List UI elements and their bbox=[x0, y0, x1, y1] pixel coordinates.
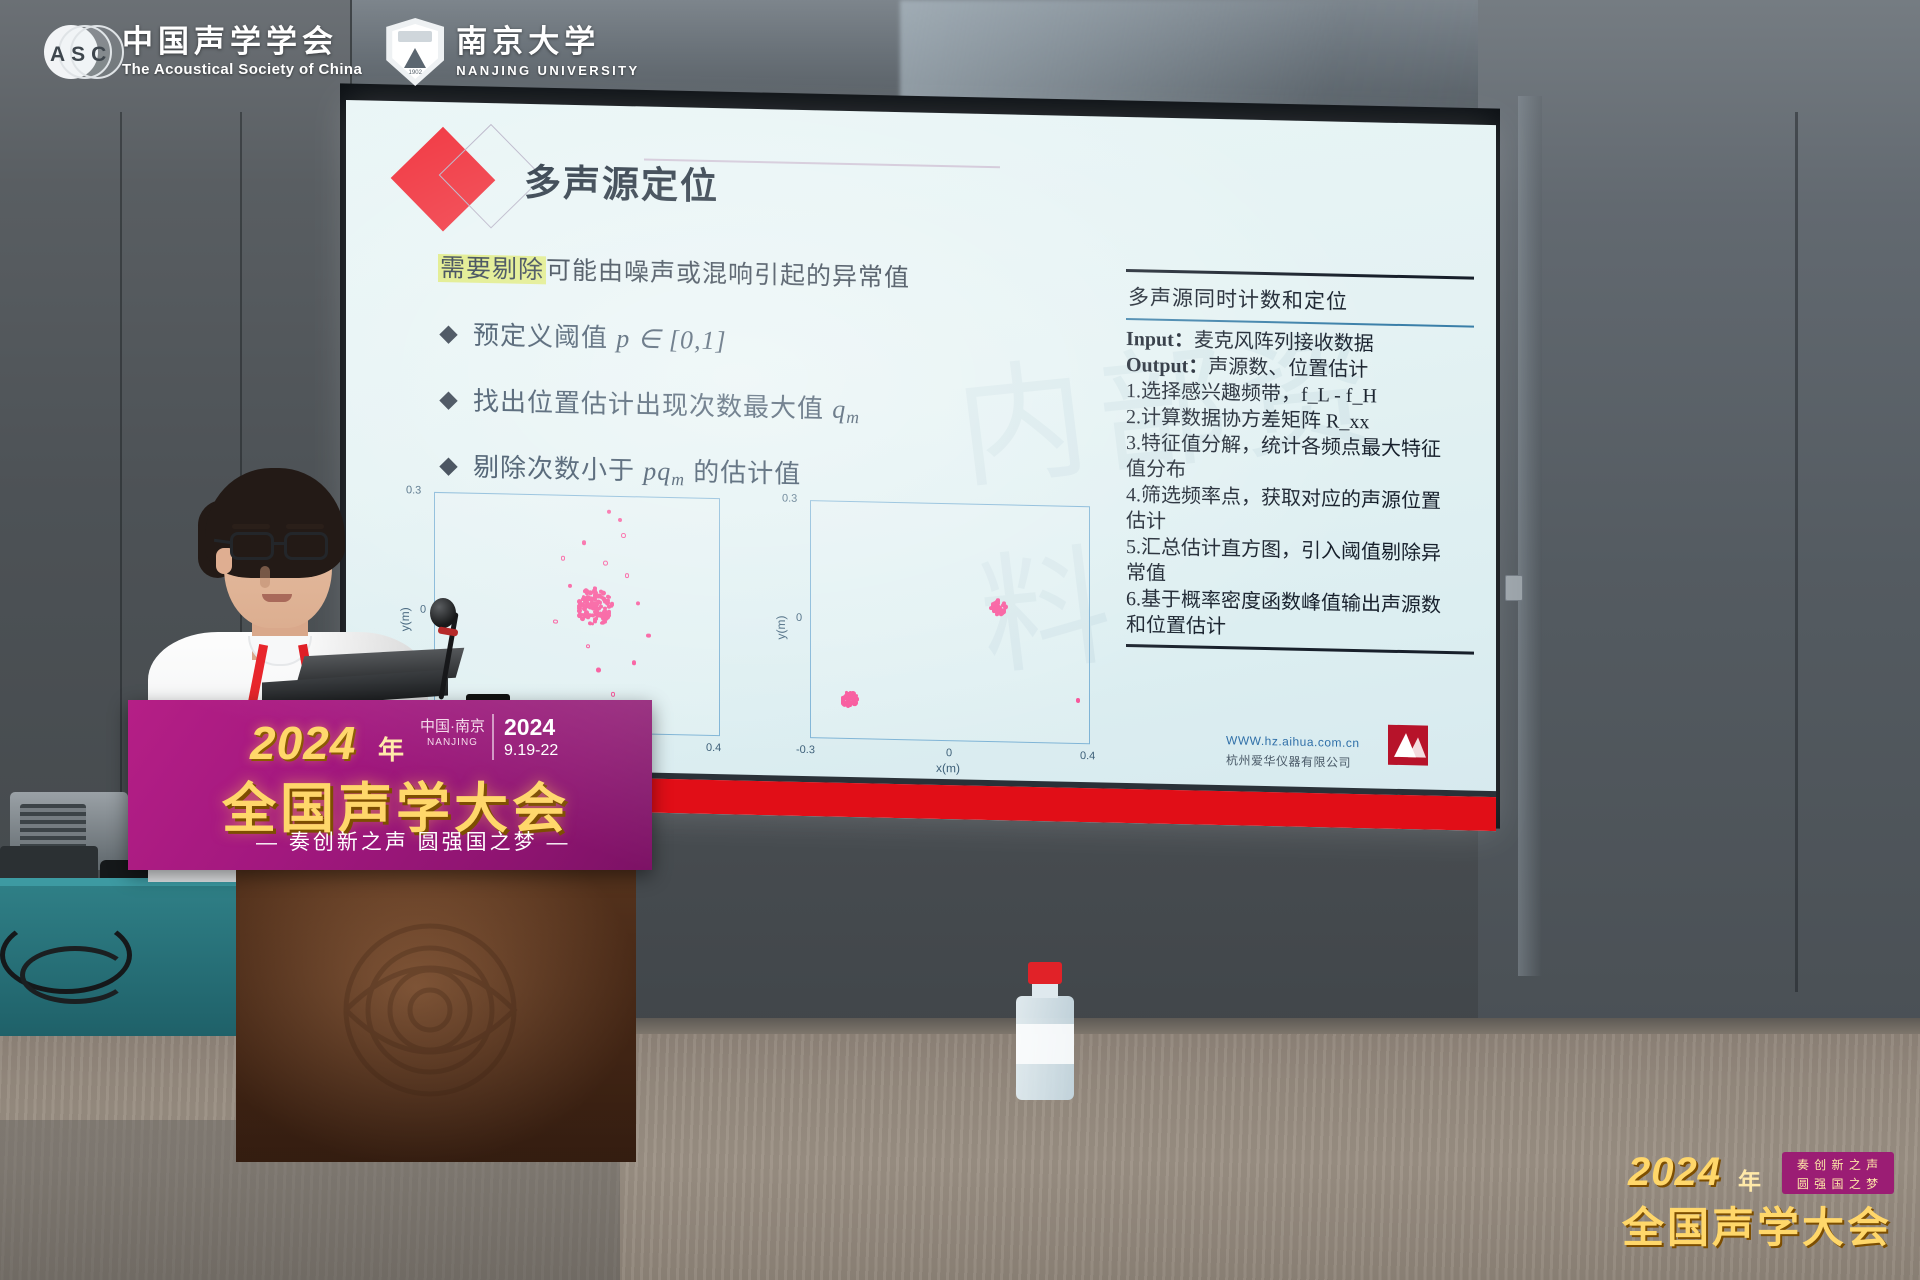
plot-right-ytick-mid: 0 bbox=[796, 612, 802, 624]
scatter-point bbox=[603, 561, 607, 565]
bullet-3-tail: 的估计值 bbox=[685, 456, 801, 489]
water-bottle-neck bbox=[1032, 982, 1058, 998]
scatter-point bbox=[646, 633, 650, 637]
scatter-point bbox=[621, 533, 625, 537]
banner-city-en: NANJING bbox=[420, 737, 485, 750]
scatter-point bbox=[596, 668, 600, 672]
wall-panel-right bbox=[1478, 0, 1920, 1035]
scatter-point bbox=[593, 619, 597, 623]
plot-left-ytick-top: 0.3 bbox=[406, 484, 421, 496]
photo-scene: 内部资料 多声源定位 需要剔除可能由噪声或混响引起的异常值 预定义阈值 p ∈ … bbox=[0, 0, 1920, 1280]
asc-mark-letters: ASC bbox=[50, 43, 112, 67]
slide-bullet-2: 找出位置估计出现次数最大值 qm bbox=[442, 380, 860, 428]
plot-left-xtick: 0.4 bbox=[706, 742, 721, 754]
scatter-point bbox=[588, 590, 593, 595]
water-bottle-label bbox=[1016, 1024, 1074, 1064]
lead-highlight: 需要剔除 bbox=[438, 254, 546, 284]
scatter-point bbox=[841, 700, 845, 704]
scatter-point bbox=[607, 605, 611, 609]
wall-door-seam bbox=[1795, 112, 1798, 992]
scatter-point bbox=[607, 598, 610, 602]
scatter-point bbox=[605, 611, 610, 616]
presenter-brow-left bbox=[232, 524, 270, 529]
watermark-badge-line1: 奏 创 新 之 声 bbox=[1782, 1152, 1894, 1175]
equipment-grill bbox=[20, 804, 86, 852]
scatter-point bbox=[997, 607, 1001, 611]
nju-shield-year: 1902 bbox=[409, 70, 422, 76]
nju-shield-icon: 1902 bbox=[386, 18, 444, 86]
watermark-badge-line2: 圆 强 国 之 梦 bbox=[1782, 1175, 1894, 1194]
wall-pillar bbox=[1518, 96, 1542, 976]
banner-main-title: 全国声学大会 bbox=[222, 764, 570, 843]
plot-right-ytick-top: 0.3 bbox=[782, 493, 797, 505]
scatter-point bbox=[578, 612, 582, 616]
nju-cn-name: 南京大学 bbox=[456, 26, 639, 59]
algorithm-input-label: Input： bbox=[1126, 328, 1194, 351]
banner-city: 中国·南京 NANJING bbox=[420, 718, 485, 749]
plot-left-ylabel: y(m) bbox=[398, 607, 412, 631]
scatter-point bbox=[561, 556, 565, 560]
watermark-year-big: 2024 bbox=[1628, 1150, 1721, 1195]
bullet-2-math: q bbox=[832, 395, 846, 424]
wall-outlet bbox=[1505, 575, 1523, 601]
asc-en-name: The Acoustical Society of China bbox=[122, 61, 362, 78]
scatter-point bbox=[996, 601, 1000, 605]
plot-left-ytick-mid: 0 bbox=[420, 604, 426, 616]
bullet-1-math: p ∈ [0,1] bbox=[616, 324, 726, 355]
presenter-glasses-left-lens bbox=[230, 532, 274, 560]
banner-divider bbox=[492, 714, 494, 760]
algorithm-output-label: Output： bbox=[1126, 354, 1208, 378]
microphone-head-icon bbox=[430, 598, 456, 628]
bullet-3-math: pq bbox=[643, 456, 671, 486]
scatter-point bbox=[853, 702, 857, 706]
scatter-point bbox=[611, 692, 615, 696]
algorithm-input-value: 麦克风阵列接收数据 bbox=[1194, 329, 1374, 355]
plot-right-xlabel: x(m) bbox=[936, 761, 960, 776]
plot-right-xtick-mid: 0 bbox=[946, 747, 952, 759]
plot-right-ylabel: y(m) bbox=[774, 615, 788, 639]
nju-shield-crest bbox=[398, 31, 432, 42]
algorithm-body: Input：麦克风阵列接收数据 Output：声源数、位置估计 1.选择感兴趣频… bbox=[1126, 320, 1474, 646]
bullet-diamond-icon bbox=[439, 458, 457, 476]
scatter-point bbox=[582, 604, 586, 608]
bullet-diamond-icon bbox=[439, 326, 457, 344]
scatter-point bbox=[1076, 698, 1080, 702]
plot-right-xtick-max: 0.4 bbox=[1080, 750, 1095, 762]
scatter-point bbox=[583, 613, 587, 618]
presenter-nose bbox=[260, 566, 270, 588]
scatter-point bbox=[582, 595, 585, 599]
bullet-1-text: 预定义阈值 bbox=[473, 320, 616, 353]
scatter-point bbox=[577, 599, 582, 604]
bullet-2-math-sub: m bbox=[846, 407, 860, 427]
banner-city-cn: 中国·南京 bbox=[420, 718, 485, 735]
scatter-point bbox=[618, 518, 622, 522]
podium-banner: 2024 年 中国·南京 NANJING 2024 9.19-22 全国声学大会… bbox=[128, 700, 652, 870]
lead-rest: 可能由噪声或混响引起的异常值 bbox=[546, 256, 910, 292]
watermark-year-char: 年 bbox=[1738, 1162, 1761, 1196]
slide-lead-line: 需要剔除可能由噪声或混响引起的异常值 bbox=[438, 248, 910, 294]
scatter-point bbox=[991, 606, 996, 611]
banner-edition-year: 2024 bbox=[504, 714, 555, 741]
watermark-main-title: 全国声学大会 bbox=[1622, 1194, 1892, 1255]
presenter-glasses-bridge bbox=[274, 542, 286, 545]
corner-watermark: 2024 年 奏 创 新 之 声 圆 强 国 之 梦 全国声学大会 bbox=[1622, 1148, 1894, 1258]
aihua-logo-icon bbox=[1386, 723, 1430, 768]
bullet-diamond-icon bbox=[439, 392, 457, 410]
scatter-point bbox=[582, 541, 586, 545]
podium-carving-pattern bbox=[300, 890, 560, 1140]
scatter-point bbox=[578, 604, 582, 608]
slide-bullet-1: 预定义阈值 p ∈ [0,1] bbox=[442, 314, 727, 357]
scatter-point bbox=[843, 694, 847, 698]
coiled-cable-secondary bbox=[20, 946, 130, 1004]
nju-pine-tree-icon bbox=[404, 48, 426, 68]
banner-dates: 9.19-22 bbox=[504, 742, 558, 760]
slide-title: 多声源定位 bbox=[524, 152, 719, 210]
algorithm-box: 多声源同时计数和定位 Input：麦克风阵列接收数据 Output：声源数、位置… bbox=[1126, 269, 1474, 655]
asc-mark-icon: ASC bbox=[44, 21, 108, 83]
scatter-point bbox=[595, 602, 599, 606]
plot-right-axes bbox=[810, 500, 1090, 744]
bullet-2-text: 找出位置估计出现次数最大值 bbox=[473, 386, 832, 424]
scatter-point bbox=[601, 621, 605, 625]
algorithm-output-value: 声源数、位置估计 bbox=[1208, 356, 1368, 381]
banner-subtitle: — 奏创新之声 圆强国之梦 — bbox=[256, 826, 571, 856]
watermark-badge: 奏 创 新 之 声 圆 强 国 之 梦 bbox=[1782, 1152, 1894, 1194]
banner-year-big: 2024 bbox=[250, 716, 356, 770]
scatter-point bbox=[625, 573, 629, 577]
bullet-3-text: 剔除次数小于 bbox=[473, 452, 643, 486]
presenter-brow-right bbox=[286, 524, 324, 529]
banner-year-char: 年 bbox=[378, 730, 404, 767]
scatter-plot-right: 0.3 0 -0.3 0 0.4 y(m) x(m) bbox=[758, 489, 1118, 777]
nju-logo: 1902 南京大学 NANJING UNIVERSITY bbox=[386, 18, 639, 86]
asc-text-block: 中国声学学会 The Acoustical Society of China bbox=[122, 26, 362, 79]
slide-footer-company: 杭州爱华仪器有限公司 bbox=[1226, 751, 1351, 771]
scatter-point bbox=[1002, 601, 1006, 605]
scatter-point bbox=[852, 695, 856, 699]
scatter-point bbox=[589, 602, 594, 607]
scatter-point bbox=[553, 619, 557, 623]
slide-footer-url: WWW.hz.aihua.com.cn bbox=[1226, 733, 1360, 750]
presenter-mouth bbox=[262, 594, 292, 602]
conference-logo-header: ASC 中国声学学会 The Acoustical Society of Chi… bbox=[44, 18, 640, 86]
plot-right-xtick-min: -0.3 bbox=[796, 744, 815, 756]
presenter-glasses-right-lens bbox=[284, 532, 328, 560]
asc-cn-name: 中国声学学会 bbox=[122, 26, 362, 59]
nju-text-block: 南京大学 NANJING UNIVERSITY bbox=[456, 26, 639, 78]
nju-en-name: NANJING UNIVERSITY bbox=[456, 63, 639, 78]
asc-logo: ASC 中国声学学会 The Acoustical Society of Chi… bbox=[44, 21, 362, 83]
scatter-point bbox=[586, 644, 590, 648]
algorithm-heading: 多声源同时计数和定位 bbox=[1126, 272, 1474, 326]
water-bottle-cap bbox=[1028, 962, 1062, 984]
